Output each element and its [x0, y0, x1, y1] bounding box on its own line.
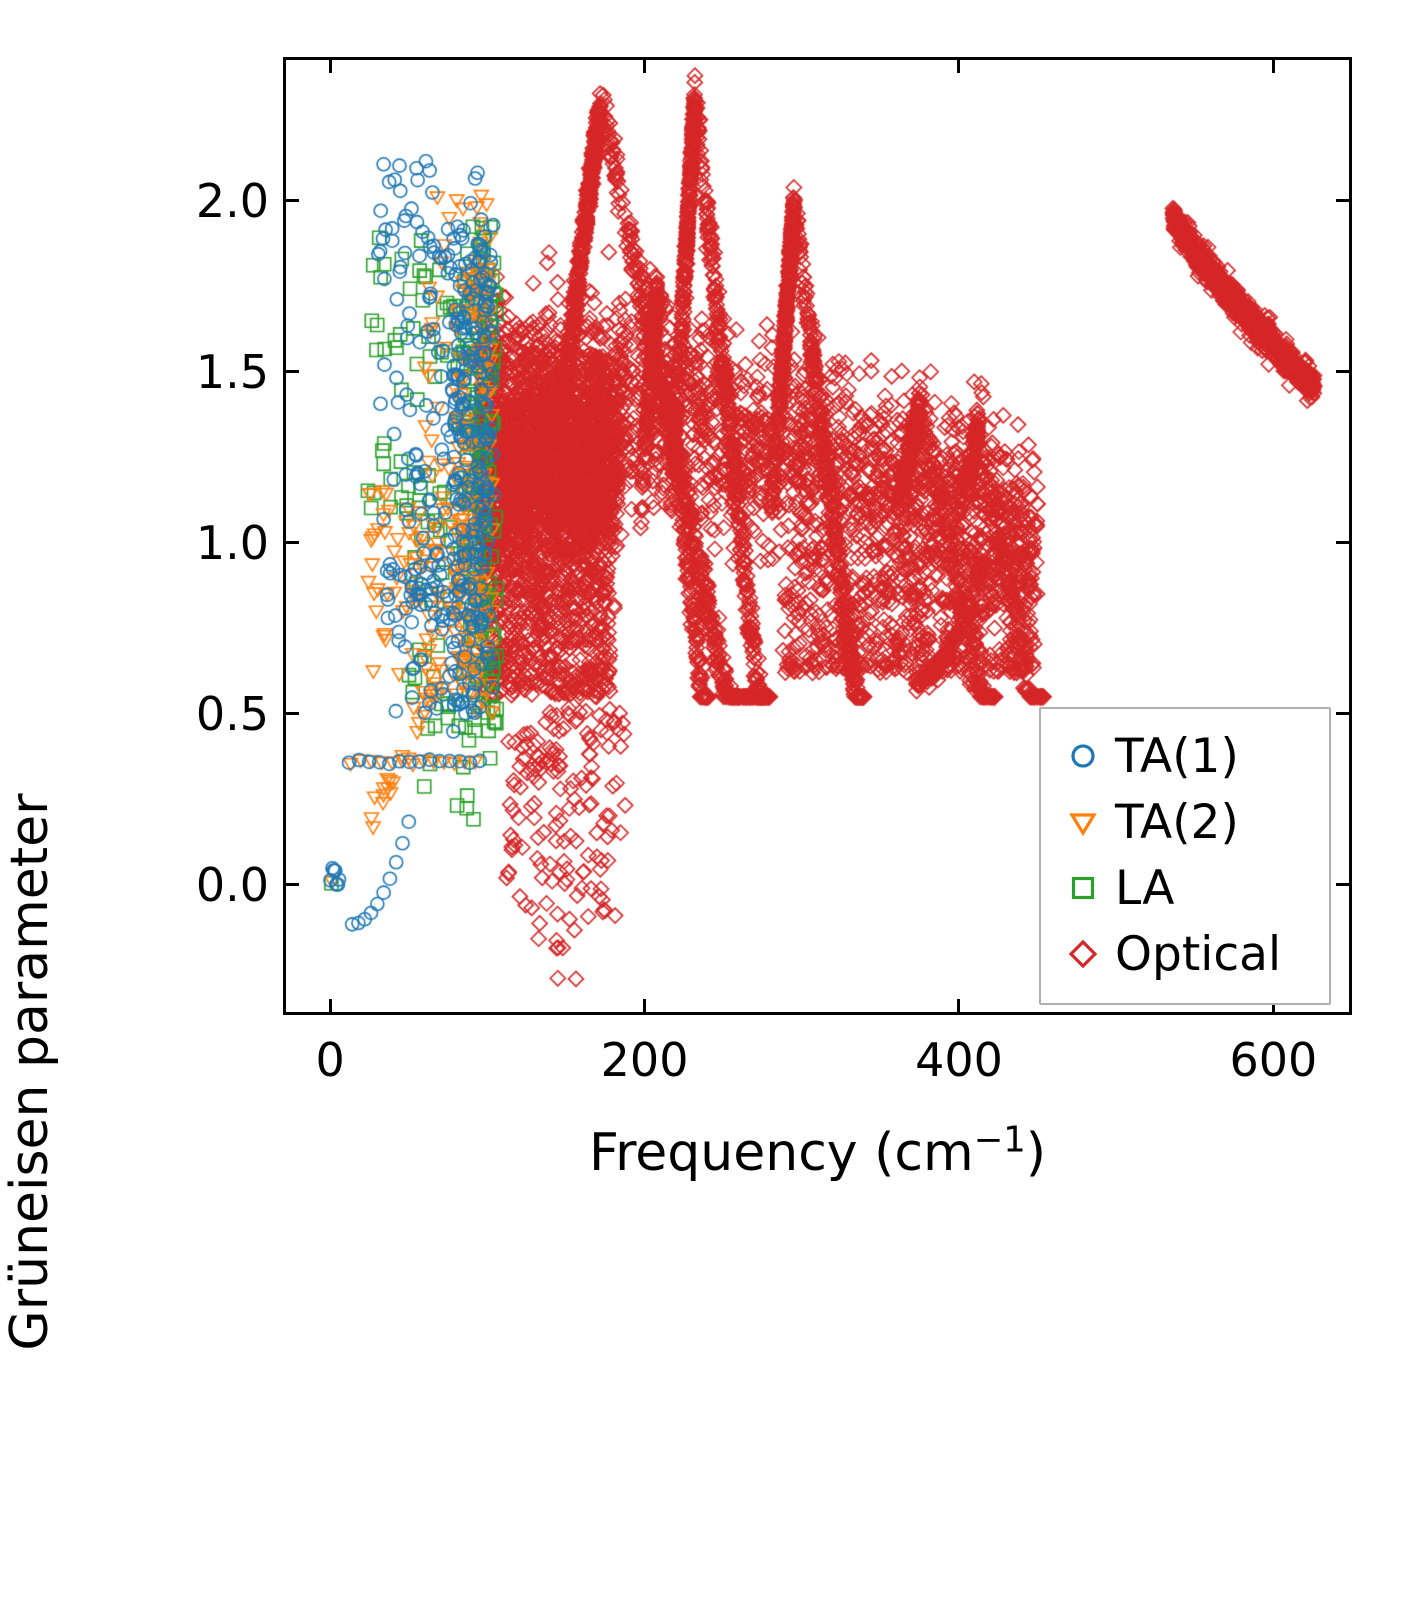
- figure-canvas: 02004006000.00.51.01.52.0 Frequency (cm−…: [0, 0, 1426, 1264]
- y-axis-tick: [286, 541, 299, 544]
- x-axis-label-tail: ): [1026, 1123, 1046, 1183]
- legend-label-ta2: TA(2): [1109, 799, 1239, 846]
- y-axis-tick: [286, 712, 299, 715]
- legend-label-optical: Optical: [1109, 931, 1281, 978]
- y-axis-tick-right: [1336, 370, 1349, 373]
- y-axis-tick-label: 2.0: [149, 178, 269, 224]
- x-axis-tick-top: [329, 60, 332, 73]
- x-axis-label-exponent: −1: [974, 1120, 1026, 1161]
- legend-item-la[interactable]: LA: [1057, 855, 1313, 921]
- y-axis-tick-right: [1336, 541, 1349, 544]
- y-axis-tick: [286, 883, 299, 886]
- circle-marker-icon: [1057, 739, 1109, 773]
- x-axis-tick: [329, 999, 332, 1012]
- x-axis-tick-label: 0: [316, 1037, 345, 1083]
- legend-label-la: LA: [1109, 865, 1174, 912]
- y-axis-tick: [286, 370, 299, 373]
- x-axis-tick: [957, 999, 960, 1012]
- legend-box: TA(1) TA(2) LA Optical: [1039, 707, 1331, 1005]
- x-axis-tick-label: 600: [1229, 1037, 1317, 1083]
- legend-item-ta2[interactable]: TA(2): [1057, 789, 1313, 855]
- y-axis-tick-label: 0.5: [149, 691, 269, 737]
- y-axis-tick-right: [1336, 199, 1349, 202]
- square-marker-icon: [1057, 871, 1109, 905]
- x-axis-label: Frequency (cm−1): [283, 1123, 1352, 1183]
- diamond-marker-icon: [1057, 937, 1109, 971]
- y-axis-tick-label: 1.5: [149, 349, 269, 395]
- legend-label-ta1: TA(1): [1109, 733, 1239, 780]
- legend-item-ta1[interactable]: TA(1): [1057, 723, 1313, 789]
- x-axis-tick-top: [957, 60, 960, 73]
- y-axis-tick: [286, 199, 299, 202]
- y-axis-tick-label: 0.0: [149, 862, 269, 908]
- x-axis-tick-top: [1272, 60, 1275, 73]
- legend-item-optical[interactable]: Optical: [1057, 921, 1313, 987]
- y-axis-tick-right: [1336, 712, 1349, 715]
- x-axis-tick-label: 200: [601, 1037, 689, 1083]
- x-axis-tick-top: [643, 60, 646, 73]
- y-axis-tick-label: 1.0: [149, 520, 269, 566]
- triangle-down-marker-icon: [1057, 805, 1109, 839]
- x-axis-tick-label: 400: [915, 1037, 1003, 1083]
- x-axis-tick: [643, 999, 646, 1012]
- y-axis-tick-right: [1336, 883, 1349, 886]
- x-axis-label-text: Frequency (cm: [589, 1123, 974, 1183]
- y-axis-label: Grüneisen parameter: [0, 536, 60, 1608]
